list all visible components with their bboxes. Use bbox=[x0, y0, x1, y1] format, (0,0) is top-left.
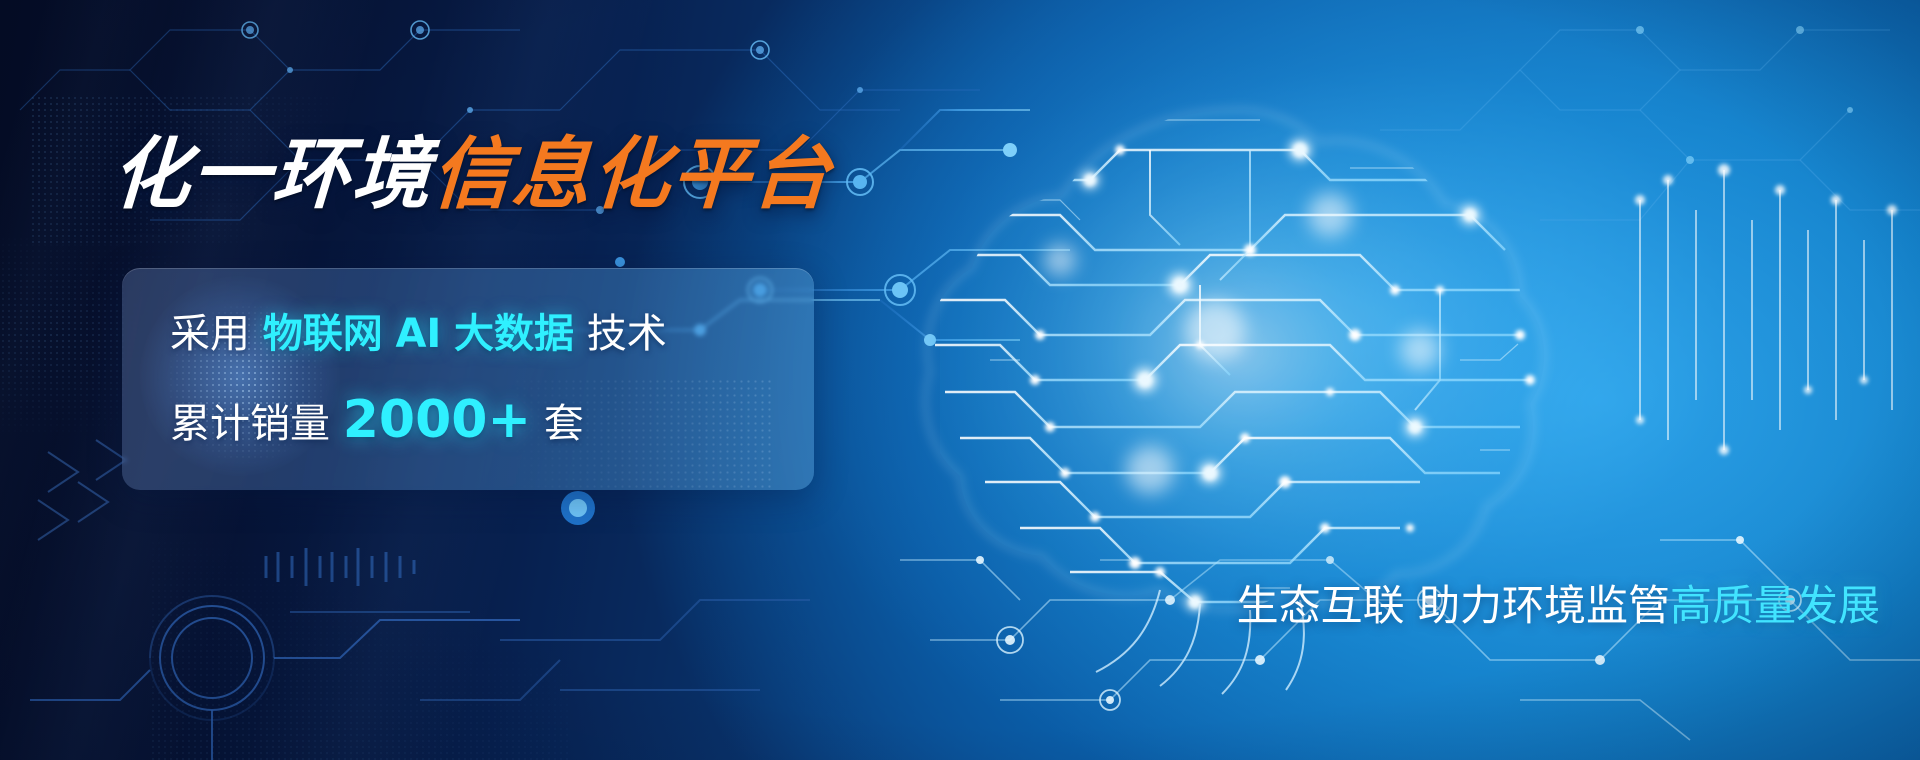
tech-suffix: 技术 bbox=[587, 314, 667, 354]
halftone-dots-bottom bbox=[150, 540, 570, 760]
feature-line-technology: 采用 物联网 AI 大数据 技术 bbox=[170, 314, 667, 354]
feature-panel: 采用 物联网 AI 大数据 技术 累计销量 2000+ 套 bbox=[122, 268, 814, 490]
promotional-banner: 化一环境信息化平台 采用 物联网 AI 大数据 技术 累计销量 2000+ 套 … bbox=[0, 0, 1920, 760]
feature-line-sales: 累计销量 2000+ 套 bbox=[170, 394, 584, 446]
tagline: 生态互联 助力环境监管高质量发展 bbox=[920, 585, 1880, 627]
title-orange-part: 信息化平台 bbox=[430, 130, 835, 220]
tech-highlight-ai: AI bbox=[395, 314, 441, 354]
hud-arcs-bottom-left bbox=[30, 596, 520, 760]
brain-halo bbox=[905, 60, 1565, 640]
title-white-part: 化一环境 bbox=[110, 130, 435, 220]
brain-circuit-traces bbox=[935, 100, 1560, 630]
hud-chevrons bbox=[38, 440, 126, 540]
page-title: 化一环境信息化平台 bbox=[110, 136, 834, 214]
brain-outline bbox=[925, 110, 1544, 610]
sales-prefix: 累计销量 bbox=[170, 404, 330, 444]
hud-lines-bottom bbox=[290, 600, 810, 700]
mesh-ring-nodes bbox=[242, 21, 769, 59]
mesh-bottom-right bbox=[900, 540, 1920, 740]
sales-suffix: 套 bbox=[544, 404, 584, 444]
brain-nodes bbox=[1030, 139, 1535, 611]
tagline-cyan-part: 高质量发展 bbox=[1670, 581, 1880, 630]
mesh-hex-right-nodes bbox=[1636, 26, 1853, 164]
tagline-white-part: 生态互联 助力环境监管 bbox=[1237, 581, 1670, 630]
hud-accent-dot bbox=[561, 491, 595, 525]
tech-highlight-bigdata: 大数据 bbox=[454, 314, 574, 354]
tech-prefix: 采用 bbox=[170, 314, 250, 354]
circuit-pins-right bbox=[1640, 170, 1892, 450]
sales-count: 2000+ bbox=[343, 394, 531, 446]
tech-highlight-iot: 物联网 bbox=[263, 314, 383, 354]
hud-bar-ticks bbox=[266, 548, 414, 586]
mesh-hex-right bbox=[1380, 30, 1920, 220]
circuit-pins-dots bbox=[1635, 164, 1897, 455]
